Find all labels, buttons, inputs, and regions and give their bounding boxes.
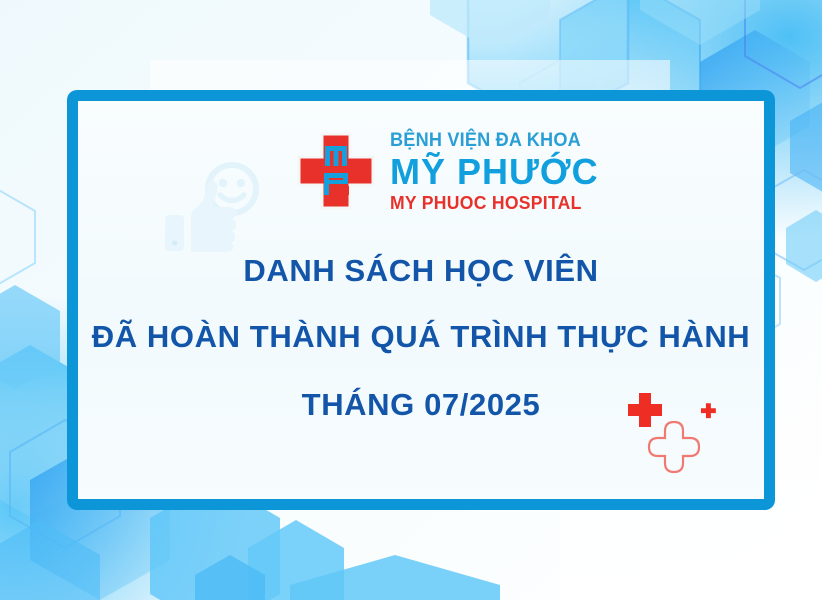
content-card: BỆNH VIỆN ĐA KHOA MỸ PHƯỚC MY PHUOC HOSP… <box>67 90 775 510</box>
heading-line-2: ĐÃ HOÀN THÀNH QUÁ TRÌNH THỰC HÀNH <box>78 319 764 355</box>
logo-line-1: BỆNH VIỆN ĐA KHOA <box>390 131 584 151</box>
logo-line-3: MY PHUOC HOSPITAL <box>390 194 588 213</box>
logo-line-2: MỸ PHƯỚC <box>390 154 599 191</box>
red-medical-crosses-icon <box>628 393 724 477</box>
heading-line-1: DANH SÁCH HỌC VIÊN <box>78 253 764 289</box>
hospital-cross-mp-logo-icon <box>296 131 376 211</box>
card-inner: BỆNH VIỆN ĐA KHOA MỸ PHƯỚC MY PHUOC HOSP… <box>78 101 764 499</box>
hospital-logo: BỆNH VIỆN ĐA KHOA MỸ PHƯỚC MY PHUOC HOSP… <box>296 129 599 213</box>
slide-canvas: BỆNH VIỆN ĐA KHOA MỸ PHƯỚC MY PHUOC HOSP… <box>0 0 822 600</box>
thumbs-up-smiley-icon <box>153 159 273 259</box>
logo-wordmark: BỆNH VIỆN ĐA KHOA MỸ PHƯỚC MY PHUOC HOSP… <box>390 129 599 213</box>
